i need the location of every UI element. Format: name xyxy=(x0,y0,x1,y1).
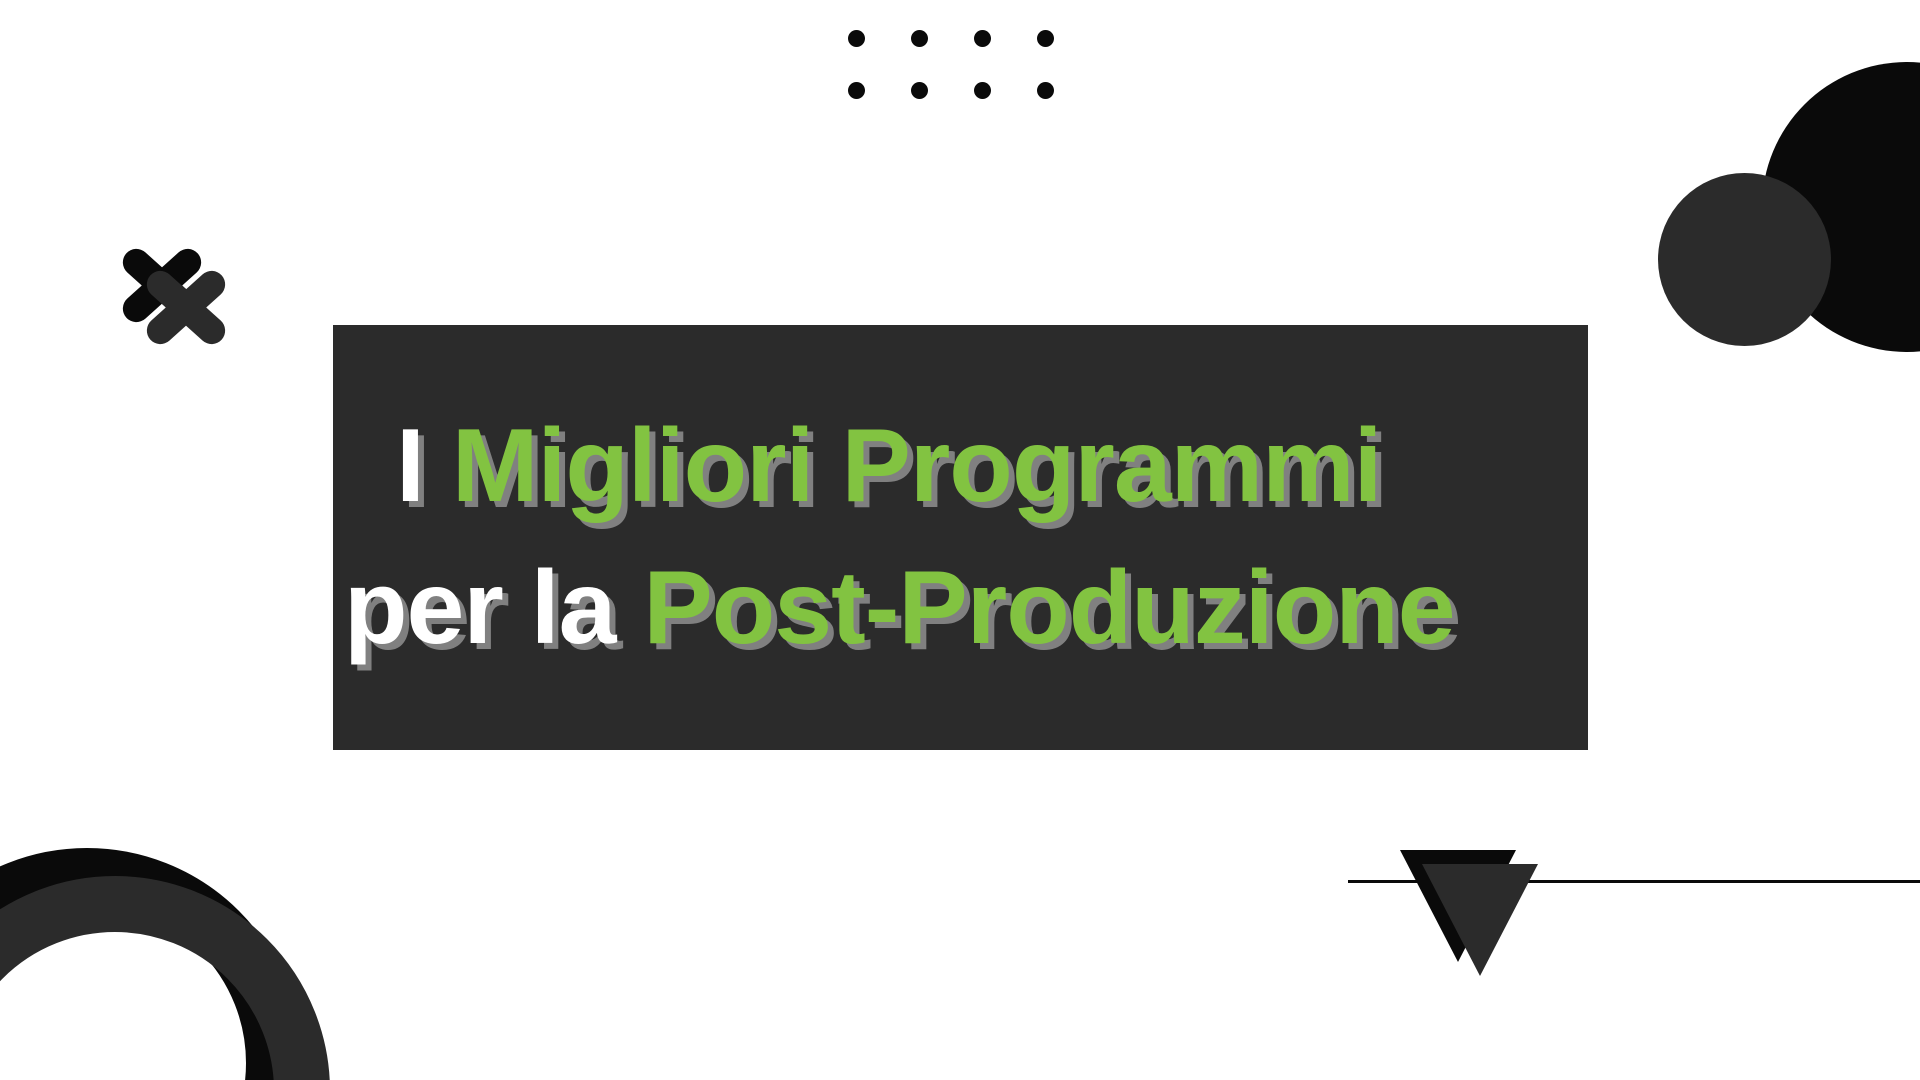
headline-line-2: per la Post-Produzione xyxy=(333,538,1633,679)
grid-dot xyxy=(911,82,928,99)
circle-small-icon xyxy=(1658,173,1831,346)
dot-grid xyxy=(848,0,1078,128)
page-title: I Migliori Programmi per la Post-Produzi… xyxy=(333,325,1633,750)
headline-word-white: per la xyxy=(344,550,615,666)
headline-word-white: I xyxy=(396,408,424,524)
ring-decoration xyxy=(0,848,432,1080)
triangle-front-icon xyxy=(1422,864,1538,976)
slide-canvas: I Migliori Programmi per la Post-Produzi… xyxy=(0,0,1920,1080)
grid-dot xyxy=(848,82,865,99)
headline-word-green: Migliori Programmi xyxy=(452,408,1382,524)
headline-word-green: Post-Produzione xyxy=(643,550,1454,666)
x-mark-icon xyxy=(108,238,238,368)
grid-dot xyxy=(974,30,991,47)
grid-dot xyxy=(911,30,928,47)
grid-dot xyxy=(974,82,991,99)
ring-front-icon xyxy=(0,876,330,1080)
grid-dot xyxy=(1037,82,1054,99)
grid-dot xyxy=(1037,30,1054,47)
headline-line-1: I Migliori Programmi xyxy=(333,396,1633,537)
grid-dot xyxy=(848,30,865,47)
